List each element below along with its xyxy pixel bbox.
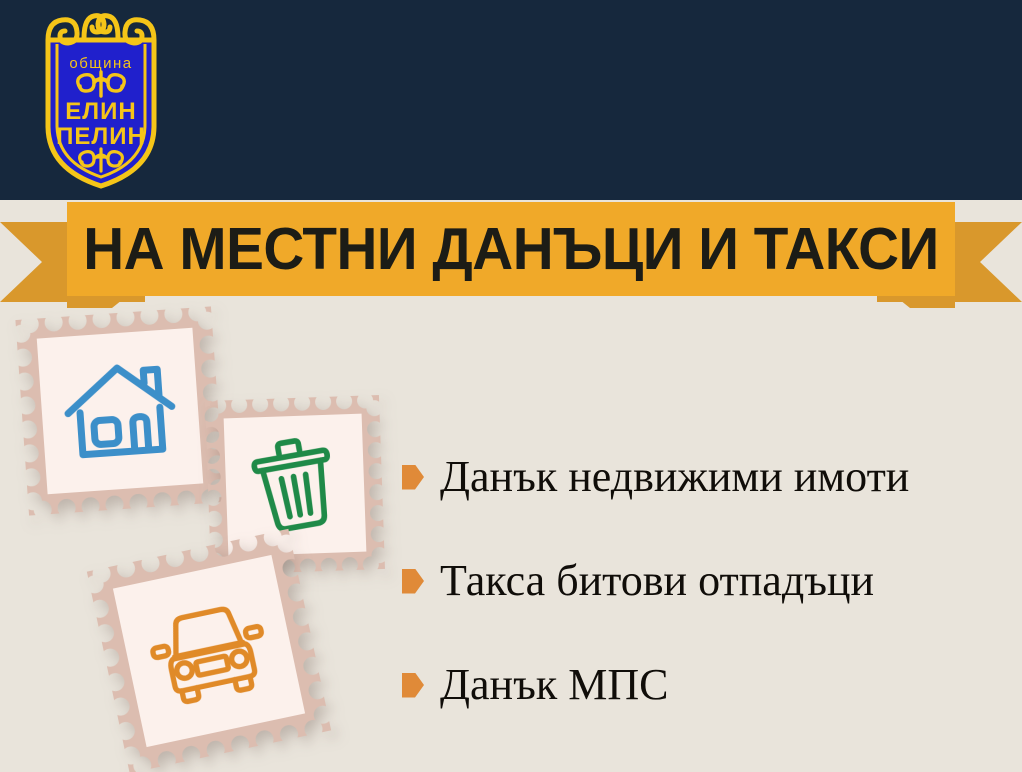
list-item-label: Такса битови отпадъци [440, 558, 874, 604]
list-item[interactable]: Такса битови отпадъци [402, 529, 1017, 633]
list-item-label: Данък недвижими имоти [440, 454, 909, 500]
list-item-label: Данък МПС [440, 662, 668, 708]
coat-of-arms-icon: община ЕЛИН ПЕЛИН [22, 6, 180, 191]
bullet-arrow-icon [402, 673, 424, 698]
crest-line-mid: ЕЛИН [65, 98, 136, 125]
ribbon-label: НА МЕСТНИ ДАНЪЦИ И ТАКСИ [85, 202, 937, 296]
ribbon-fold-left [67, 296, 127, 308]
service-list: Данък недвижими имоти Такса битови отпад… [402, 425, 1017, 737]
bullet-arrow-icon [402, 569, 424, 594]
stamp-card-vehicle [87, 529, 331, 772]
crest-line-bottom: ПЕЛИН [56, 123, 146, 150]
crest-line-top: община [69, 55, 132, 72]
house-icon [15, 306, 224, 515]
ribbon-fold-right [895, 296, 955, 308]
ribbon-banner: НА МЕСТНИ ДАНЪЦИ И ТАКСИ [0, 200, 1022, 310]
list-item[interactable]: Данък недвижими имоти [402, 425, 1017, 529]
car-icon [87, 529, 331, 772]
bullet-arrow-icon [402, 465, 424, 490]
stamp-card-property [15, 306, 224, 515]
poster-canvas: ПРОВЕРКА И ПЛАЩАНЕ НА ЗАДЪЛЖЕНИЯ община [0, 0, 1022, 772]
list-item[interactable]: Данък МПС [402, 633, 1017, 737]
